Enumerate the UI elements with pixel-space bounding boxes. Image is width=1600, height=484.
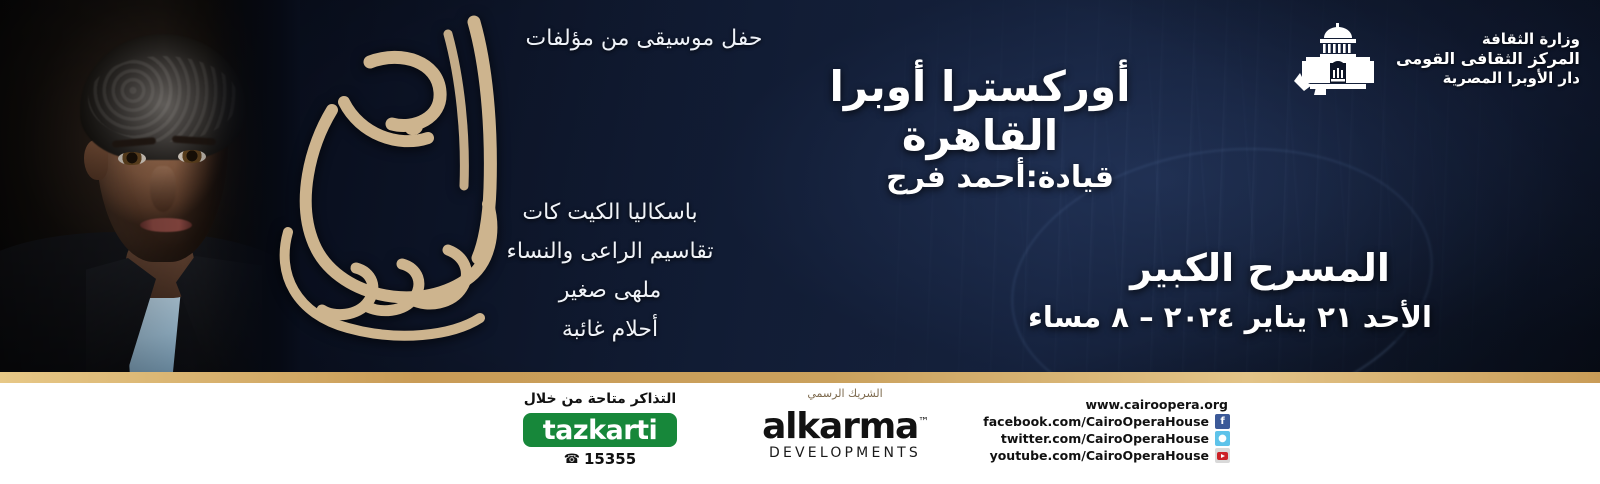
program-item: أحلام غائبة (470, 310, 750, 349)
cultural-center-line: المركز الثقافى القومى (1396, 49, 1580, 69)
website-url[interactable]: www.cairoopera.org (1085, 397, 1230, 412)
trademark-symbol: ™ (918, 415, 928, 428)
program-item: ملهى صغير (470, 271, 750, 310)
venue-name: المسرح الكبير (1060, 246, 1460, 290)
conductor-line: قيادة:أحمد فرج (790, 160, 1210, 195)
tazkarti-wordmark: tazkarti (543, 415, 658, 446)
twitter-icon: ● (1215, 431, 1230, 446)
tickets-phone[interactable]: ☎ 15355 (490, 450, 710, 468)
youtube-icon (1215, 448, 1230, 463)
program-item: باسكاليا الكيت كات (470, 193, 750, 232)
tickets-phone-number: 15355 (584, 450, 636, 468)
facebook-icon: f (1215, 414, 1230, 429)
program-item: تقاسيم الراعى والنساء (470, 232, 750, 271)
opera-house-building-icon (1292, 21, 1384, 97)
social-link-facebook[interactable]: facebook.com/CairoOperaHouse f (1000, 414, 1230, 429)
social-links-block: www.cairoopera.org facebook.com/CairoOpe… (1000, 397, 1230, 463)
gold-divider (0, 372, 1600, 383)
phone-icon: ☎ (564, 452, 580, 467)
tagline: حفل موسيقى من مؤلفات (500, 26, 788, 51)
poster-footer: التذاكر متاحة من خلال tazkarti ☎ 15355 ا… (0, 383, 1600, 484)
opera-logo-text: وزارة الثقافة المركز الثقافى القومى دار … (1396, 30, 1580, 89)
facebook-url: facebook.com/CairoOperaHouse (983, 414, 1209, 429)
alkarma-logo: alkarma™ (762, 406, 928, 447)
social-link-youtube[interactable]: youtube.com/CairoOperaHouse (1000, 448, 1230, 463)
youtube-url: youtube.com/CairoOperaHouse (990, 448, 1209, 463)
social-link-twitter[interactable]: twitter.com/CairoOperaHouse ● (1000, 431, 1230, 446)
cairo-opera-logo: وزارة الثقافة المركز الثقافى القومى دار … (1292, 18, 1582, 100)
sponsor-block: الشريك الرسمي alkarma™ DEVELOPMENTS (735, 387, 955, 461)
program-list: باسكاليا الكيت كات تقاسيم الراعى والنساء… (470, 193, 750, 349)
tickets-caption: التذاكر متاحة من خلال (490, 391, 710, 407)
opera-house-line: دار الأوبرا المصرية (1396, 69, 1580, 88)
alkarma-wordmark: alkarma (762, 406, 918, 447)
ministry-line: وزارة الثقافة (1396, 30, 1580, 49)
twitter-url: twitter.com/CairoOperaHouse (1001, 431, 1209, 446)
poster-hero: حفل موسيقى من مؤلفات باسكاليا الكيت كات … (0, 0, 1600, 372)
event-poster: حفل موسيقى من مؤلفات باسكاليا الكيت كات … (0, 0, 1600, 484)
sponsor-caption: الشريك الرسمي (735, 387, 955, 400)
tickets-block: التذاكر متاحة من خلال tazkarti ☎ 15355 (490, 391, 710, 468)
tazkarti-logo[interactable]: tazkarti (523, 413, 677, 447)
orchestra-title: أوركسترا أوبرا القاهرة (760, 62, 1200, 160)
alkarma-subtitle: DEVELOPMENTS (735, 445, 955, 461)
event-date-time: الأحد ٢١ يناير ٢٠٢٤ – ٨ مساء (1000, 300, 1460, 334)
